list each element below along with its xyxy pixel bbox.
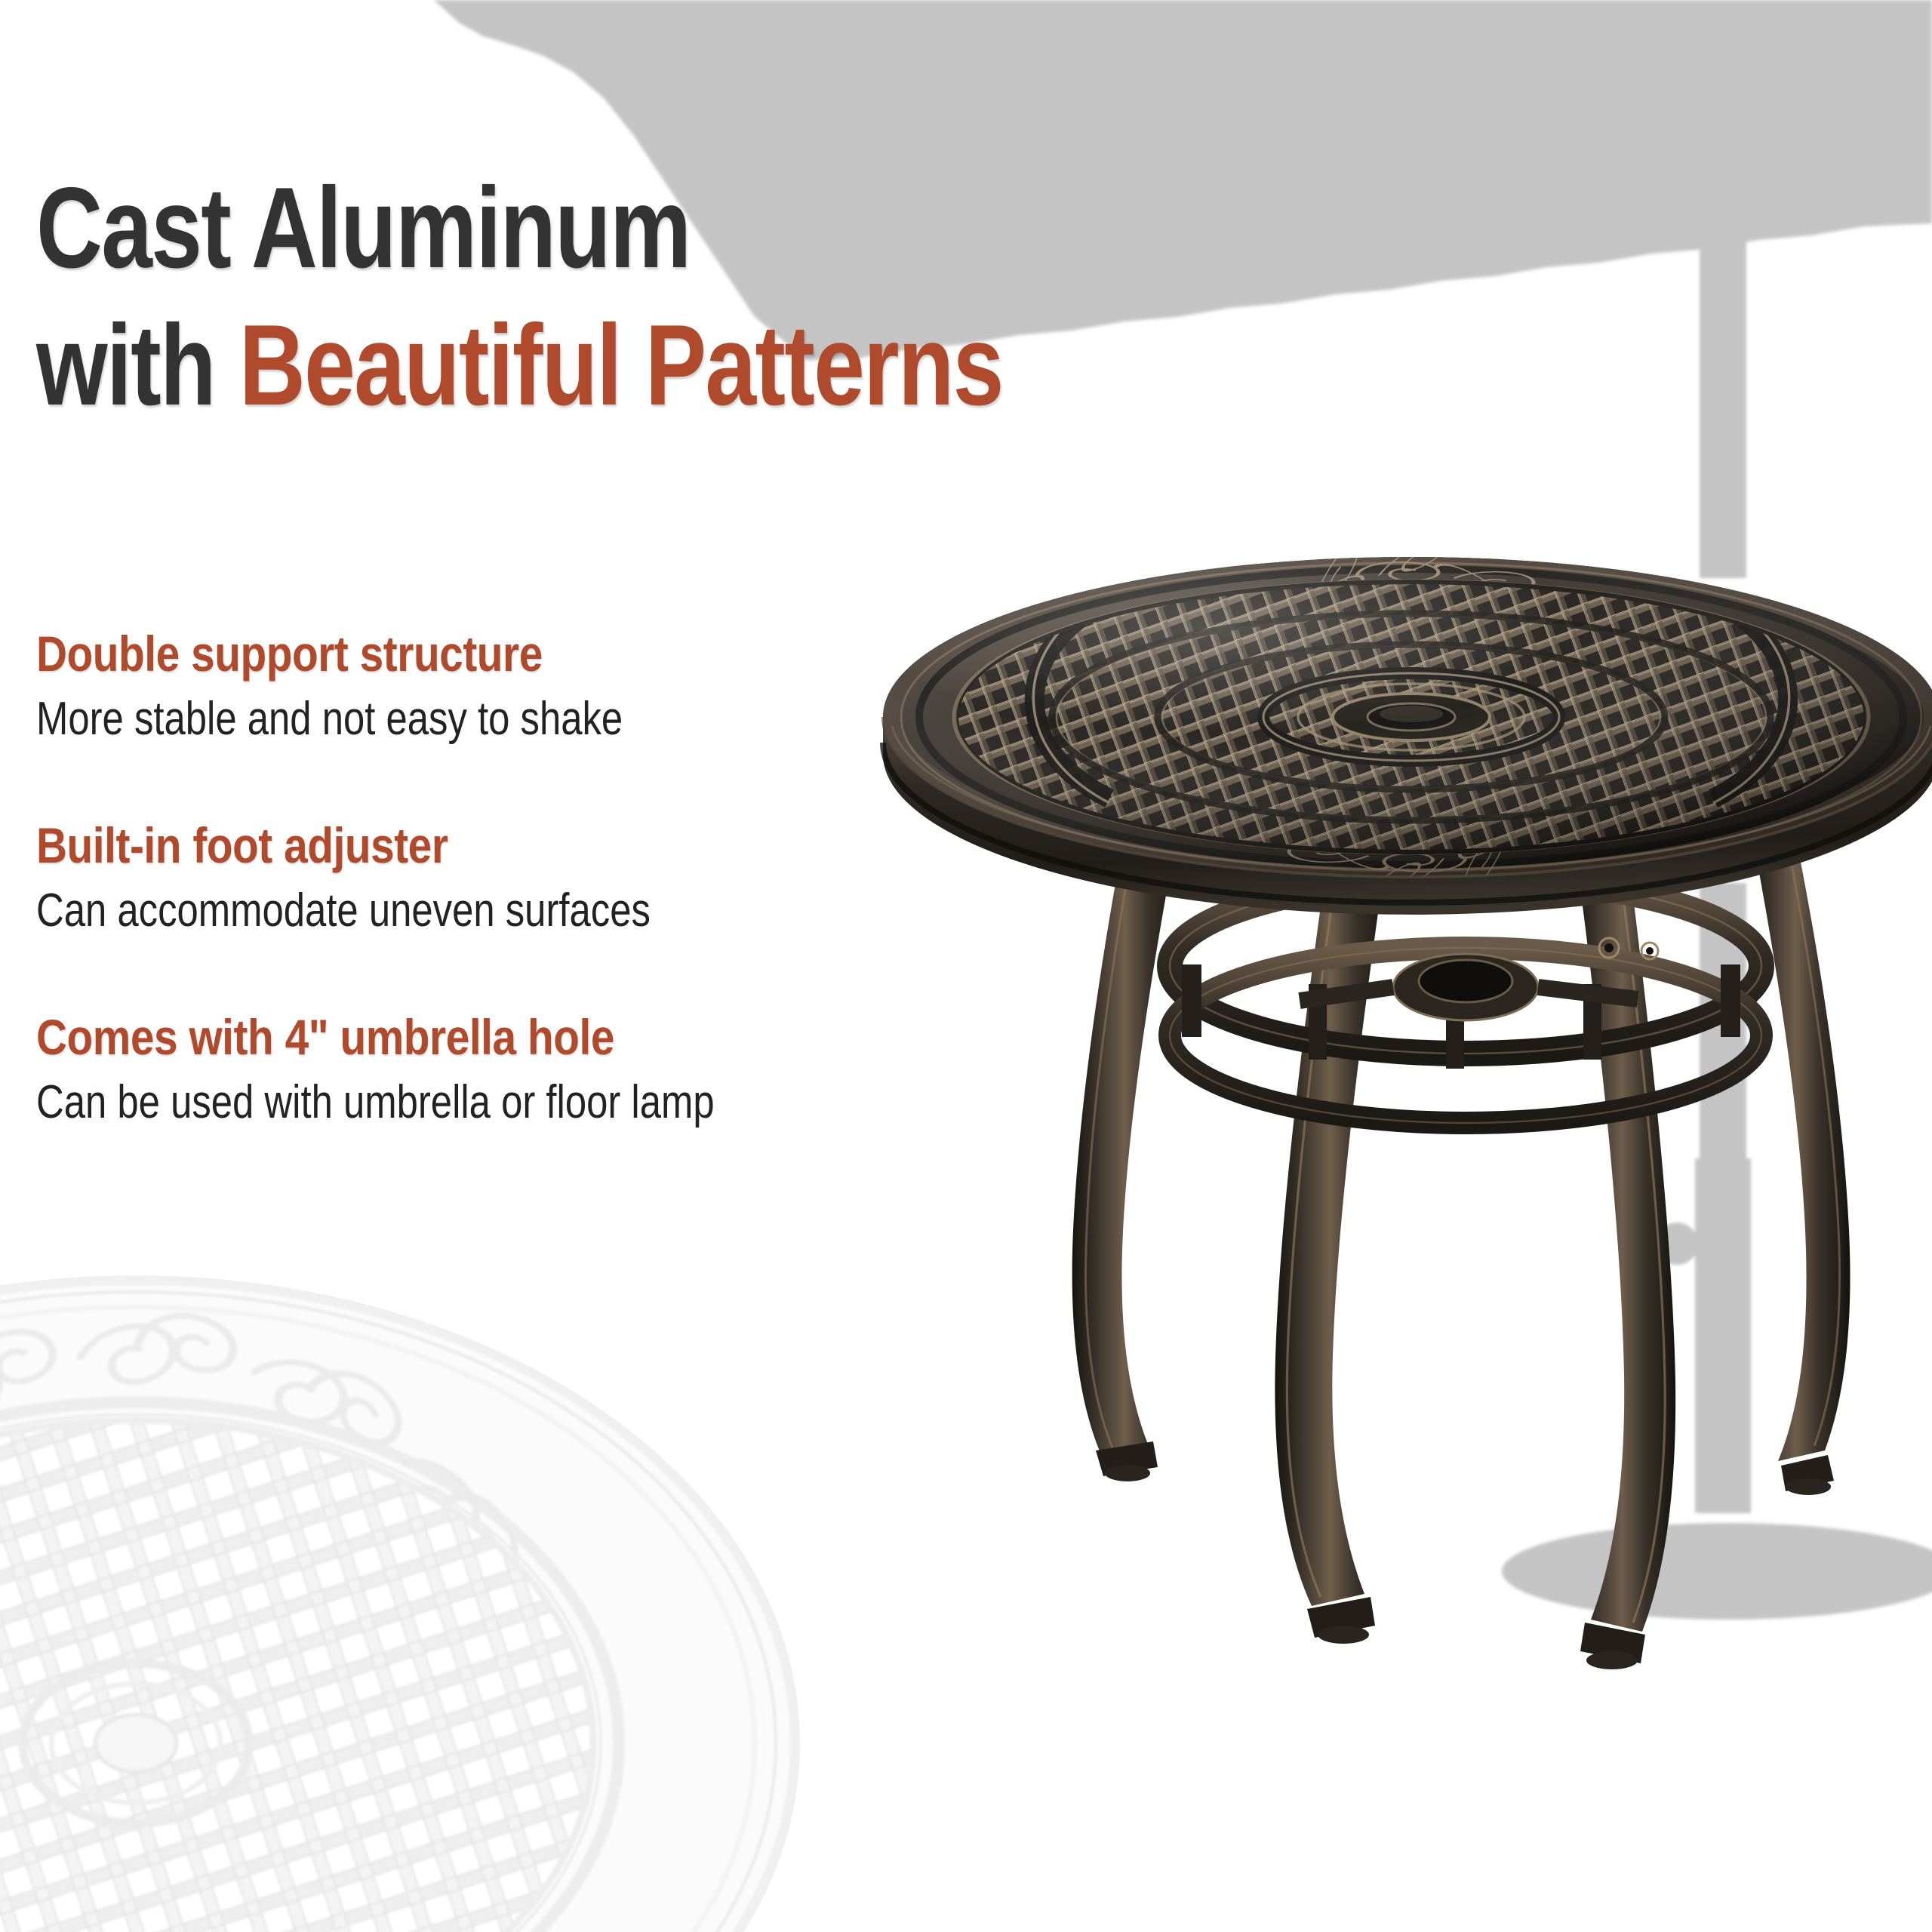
feature-list: Double support structure More stable and… <box>36 625 1093 1131</box>
headline-block: Cast Aluminum with Beautiful Patterns <box>36 165 1515 429</box>
feature-item: Double support structure More stable and… <box>36 625 1093 747</box>
feature-title: Double support structure <box>36 625 945 682</box>
feature-title: Comes with 4" umbrella hole <box>36 1008 945 1066</box>
feature-title: Built-in foot adjuster <box>36 817 945 874</box>
feature-subtitle: Can accommodate uneven surfaces <box>36 883 903 939</box>
feature-item: Built-in foot adjuster Can accommodate u… <box>36 817 1093 939</box>
infographic-canvas: Cast Aluminum with Beautiful Patterns Do… <box>0 0 1932 1932</box>
feature-subtitle: More stable and not easy to shake <box>36 691 903 747</box>
feature-subtitle: Can be used with umbrella or floor lamp <box>36 1075 903 1131</box>
headline-line-2-prefix: with <box>36 301 239 429</box>
ghost-watermark <box>0 1064 1041 1932</box>
headline-line-1: Cast Aluminum <box>36 165 1220 291</box>
feature-item: Comes with 4" umbrella hole Can be used … <box>36 1008 1093 1131</box>
headline-line-2-accent: Beautiful Patterns <box>239 301 1003 429</box>
headline-line-2: with Beautiful Patterns <box>36 302 1220 429</box>
